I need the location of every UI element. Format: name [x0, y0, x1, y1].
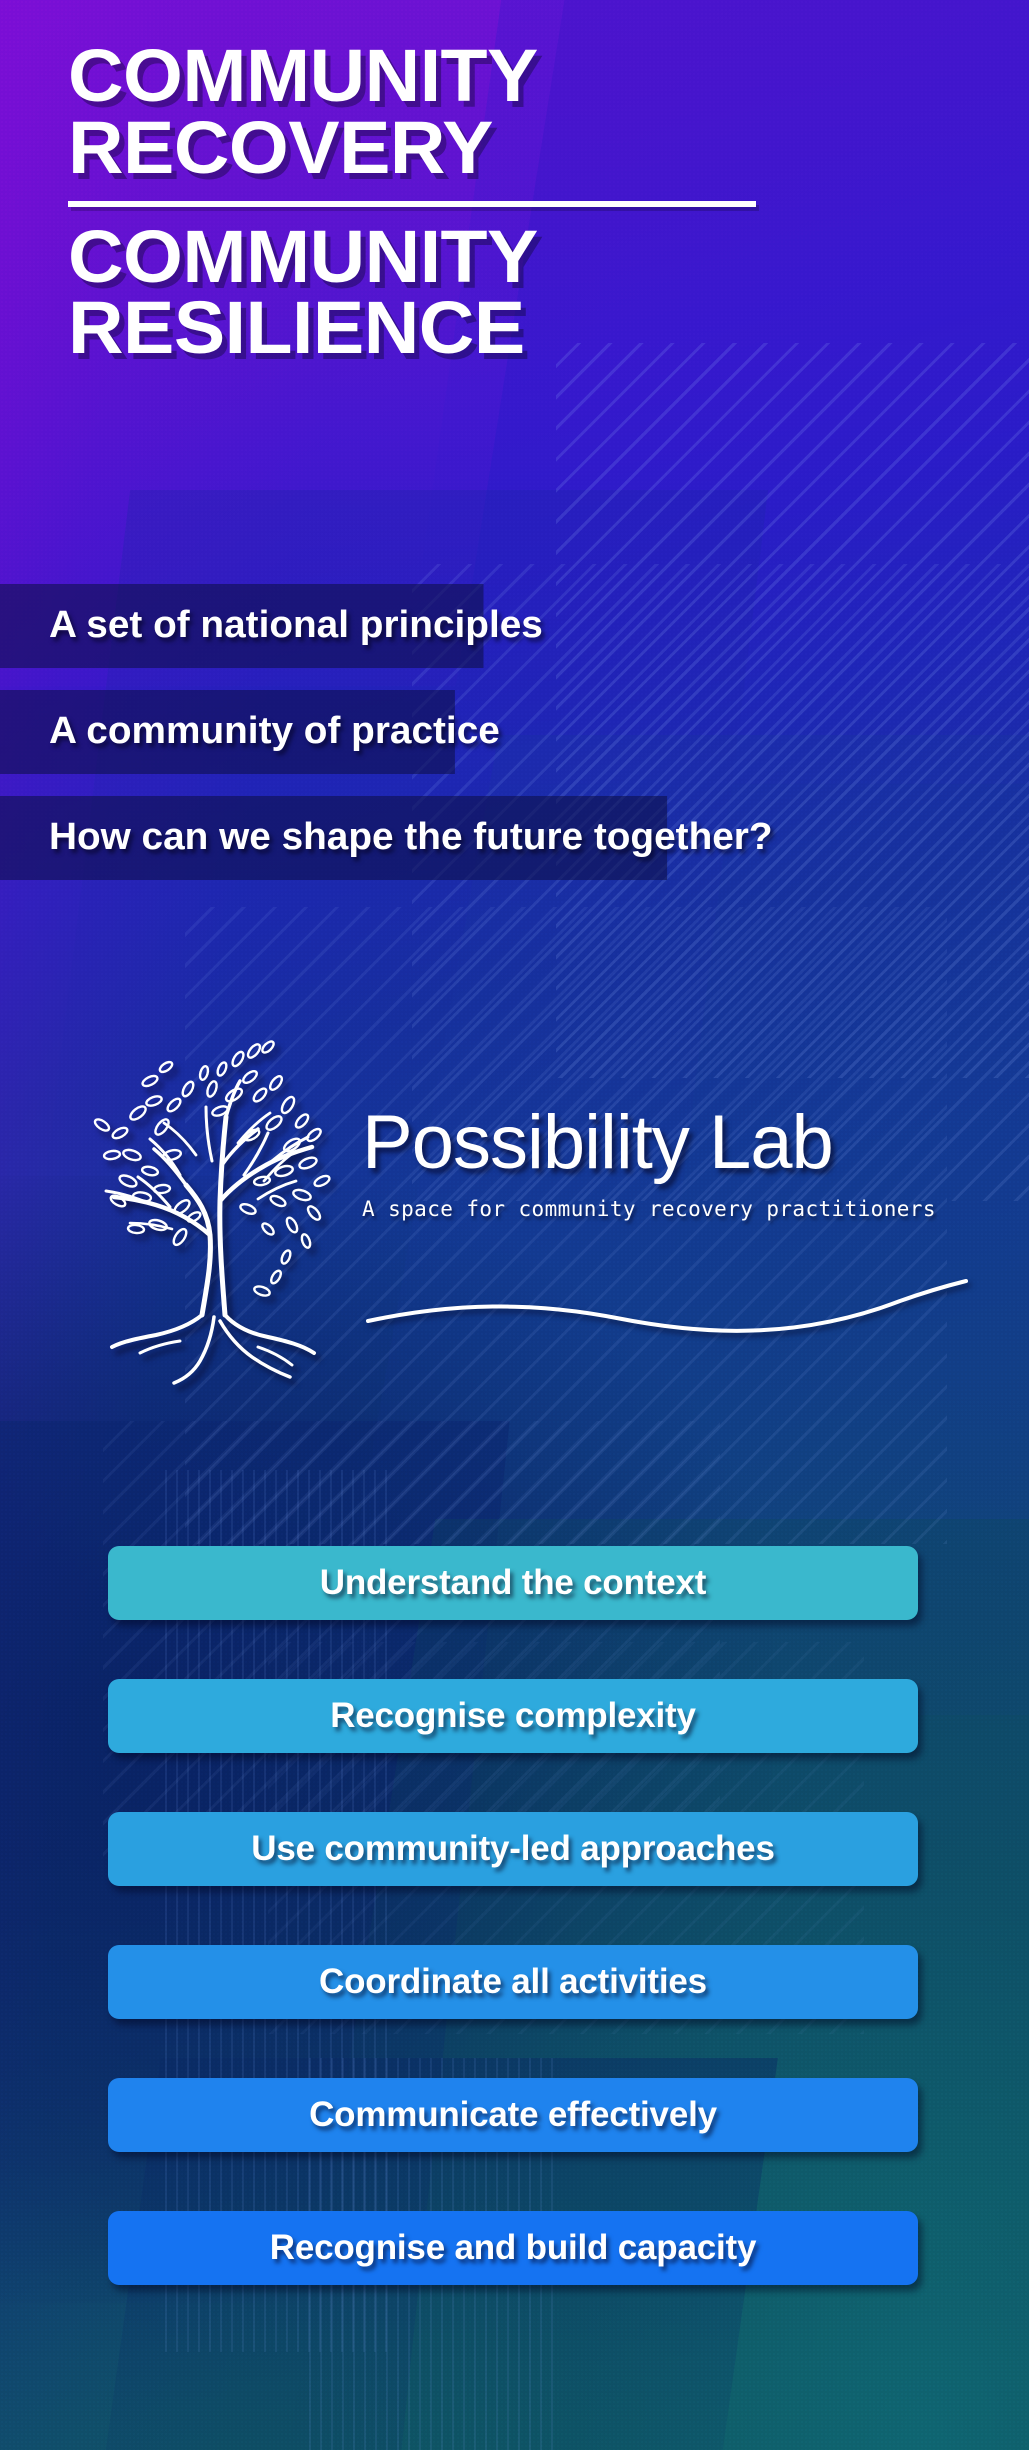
headline-line-3: COMMUNITY: [68, 221, 1004, 293]
subtitle-bars: A set of national principles A community…: [0, 584, 1029, 902]
logo-block: Possibility Lab A space for community re…: [62, 985, 972, 1385]
principle-button-recognise-complexity[interactable]: Recognise complexity: [108, 1679, 918, 1753]
headline-block: COMMUNITY RECOVERY COMMUNITY RESILIENCE: [68, 40, 968, 364]
subtitle-bar-community-of-practice: A community of practice: [0, 690, 455, 774]
principle-button-coordinate-all-activities[interactable]: Coordinate all activities: [108, 1945, 918, 2019]
principle-button-recognise-and-build-capacity[interactable]: Recognise and build capacity: [108, 2211, 918, 2285]
logo-tagline: A space for community recovery practitio…: [362, 1197, 972, 1221]
headline-line-4: RESILIENCE: [68, 292, 1004, 364]
subtitle-bar-shape-the-future: How can we shape the future together?: [0, 796, 667, 880]
principle-button-communicate-effectively[interactable]: Communicate effectively: [108, 2078, 918, 2152]
subtitle-bar-national-principles: A set of national principles: [0, 584, 483, 668]
logo-name: Possibility Lab: [362, 1105, 972, 1181]
swoosh-underline-icon: [362, 1275, 972, 1355]
subtitle-row-3: How can we shape the future together?: [0, 796, 1029, 880]
principle-button-understand-the-context[interactable]: Understand the context: [108, 1546, 918, 1620]
subtitle-row-1: A set of national principles: [0, 584, 1029, 668]
poster-canvas: COMMUNITY RECOVERY COMMUNITY RESILIENCE …: [0, 0, 1029, 2450]
headline-divider-rule: [68, 201, 756, 207]
logo-wordmark: Possibility Lab A space for community re…: [362, 1105, 972, 1221]
subtitle-row-2: A community of practice: [0, 690, 1029, 774]
headline-line-1: COMMUNITY: [68, 40, 1004, 112]
tree-icon: [62, 985, 352, 1385]
principle-button-use-community-led-approaches[interactable]: Use community-led approaches: [108, 1812, 918, 1886]
principles-list: Understand the context Recognise complex…: [108, 1546, 918, 2285]
headline-line-2: RECOVERY: [68, 112, 1004, 184]
